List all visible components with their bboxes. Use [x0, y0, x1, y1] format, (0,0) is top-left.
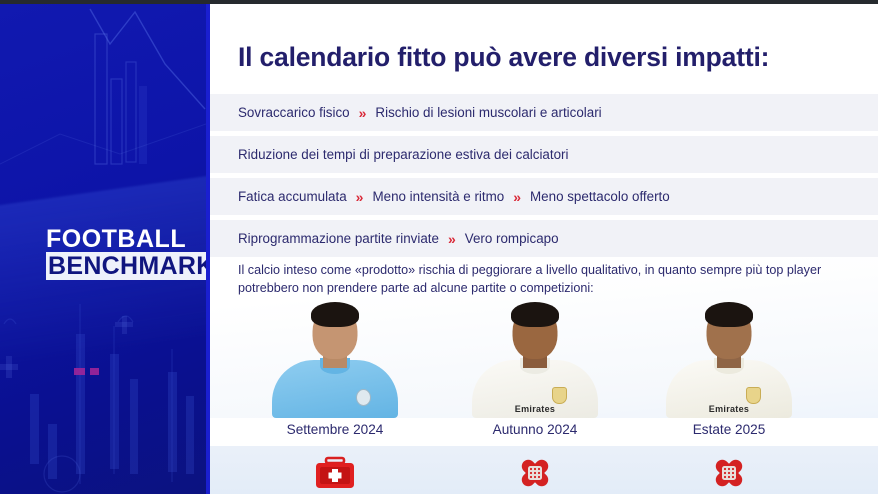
status-icon-row — [210, 446, 878, 494]
list-item-part: Fatica accumulata — [238, 189, 347, 204]
list-item: Riduzione dei tempi di preparazione esti… — [210, 136, 878, 173]
list-item-part: Vero rompicapo — [465, 231, 559, 246]
list-item: Sovraccarico fisico » Rischio di lesioni… — [210, 94, 878, 131]
page-title: Il calendario fitto può avere diversi im… — [238, 42, 769, 73]
list-item-part: Riduzione dei tempi di preparazione esti… — [238, 147, 568, 162]
chevron-right-icon: » — [513, 190, 521, 204]
player-hair — [511, 302, 559, 327]
kit-sponsor-text: Emirates — [709, 404, 749, 414]
status-icon-cell — [440, 452, 630, 492]
player-caption: Settembre 2024 — [240, 422, 430, 437]
player-cell: Emirates — [440, 300, 630, 418]
body-paragraph: Il calcio inteso come «prodotto» rischia… — [238, 262, 838, 298]
player-hair — [705, 302, 753, 327]
club-crest-icon — [356, 389, 371, 406]
player-photo — [269, 300, 401, 418]
brand-logo-line2: BENCHMARK — [46, 252, 206, 280]
chevron-right-icon: » — [356, 190, 364, 204]
club-crest-icon — [552, 387, 567, 404]
status-icon-cell — [240, 452, 430, 492]
crossed-bandages-icon — [440, 452, 630, 492]
player-cell — [240, 300, 430, 418]
brand-logo: FOOTBALL BENCHMARK — [46, 226, 196, 280]
status-icon-cell — [634, 452, 824, 492]
slide-root: FOOTBALL BENCHMARK Il calendario fitto p… — [0, 0, 878, 494]
list-item-part: Meno intensità e ritmo — [372, 189, 504, 204]
kit-sponsor-text: Emirates — [515, 404, 555, 414]
brand-logo-line1: FOOTBALL — [46, 226, 196, 252]
main-content: Il calendario fitto può avere diversi im… — [210, 4, 878, 494]
player-photo: Emirates — [469, 300, 601, 418]
list-item: Riprogrammazione partite rinviate » Vero… — [210, 220, 878, 257]
list-item-part: Sovraccarico fisico — [238, 105, 350, 120]
player-photo-row: Emirates Emirates — [210, 300, 878, 418]
list-item-part: Riprogrammazione partite rinviate — [238, 231, 439, 246]
club-crest-icon — [746, 387, 761, 404]
first-aid-kit-icon — [240, 452, 430, 492]
player-cell: Emirates — [634, 300, 824, 418]
player-photo: Emirates — [663, 300, 795, 418]
chevron-right-icon: » — [448, 232, 456, 246]
player-caption: Autunno 2024 — [440, 422, 630, 437]
list-item: Fatica accumulata » Meno intensità e rit… — [210, 178, 878, 215]
list-item-part: Rischio di lesioni muscolari e articolar… — [375, 105, 601, 120]
player-caption: Estate 2025 — [634, 422, 824, 437]
list-item-part: Meno spettacolo offerto — [530, 189, 670, 204]
chevron-right-icon: » — [359, 106, 367, 120]
player-caption-row: Settembre 2024 Autunno 2024 Estate 2025 — [210, 418, 878, 446]
player-hair — [311, 302, 359, 327]
impact-list: Sovraccarico fisico » Rischio di lesioni… — [210, 94, 878, 262]
sidebar: FOOTBALL BENCHMARK — [0, 4, 206, 494]
crossed-bandages-icon — [634, 452, 824, 492]
